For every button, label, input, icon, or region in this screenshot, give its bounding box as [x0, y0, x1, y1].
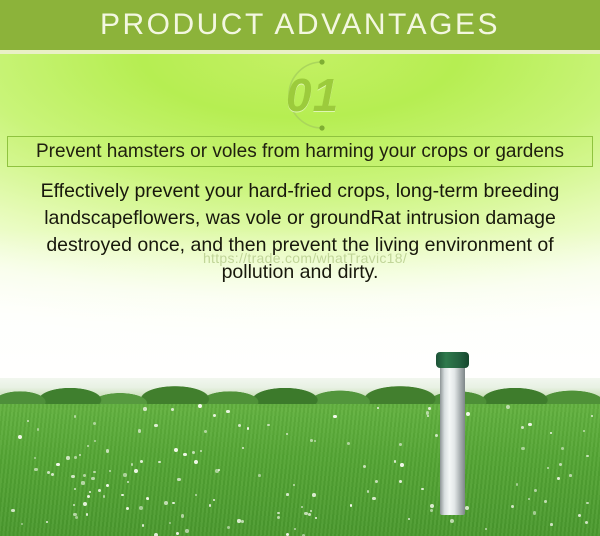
page-title: PRODUCT ADVANTAGES [0, 4, 600, 46]
step-number-badge: 01 [256, 58, 376, 132]
headline-box: Prevent hamsters or voles from harming y… [7, 136, 593, 167]
daisy-flowers [0, 404, 600, 536]
step-number: 01 [286, 64, 366, 126]
device-neck [436, 352, 469, 368]
device-stake [440, 362, 465, 515]
headline-text: Prevent hamsters or voles from harming y… [36, 141, 564, 163]
product-advantages-banner: PRODUCT ADVANTAGES 01 Prevent hamsters o… [0, 0, 600, 536]
watermark-text: https://trade.com/whatTravic18/ [140, 250, 470, 266]
body-paragraph: Effectively prevent your hard-fried crop… [14, 178, 586, 286]
landscape-scene [0, 378, 600, 536]
solar-rodent-repeller [404, 300, 504, 515]
